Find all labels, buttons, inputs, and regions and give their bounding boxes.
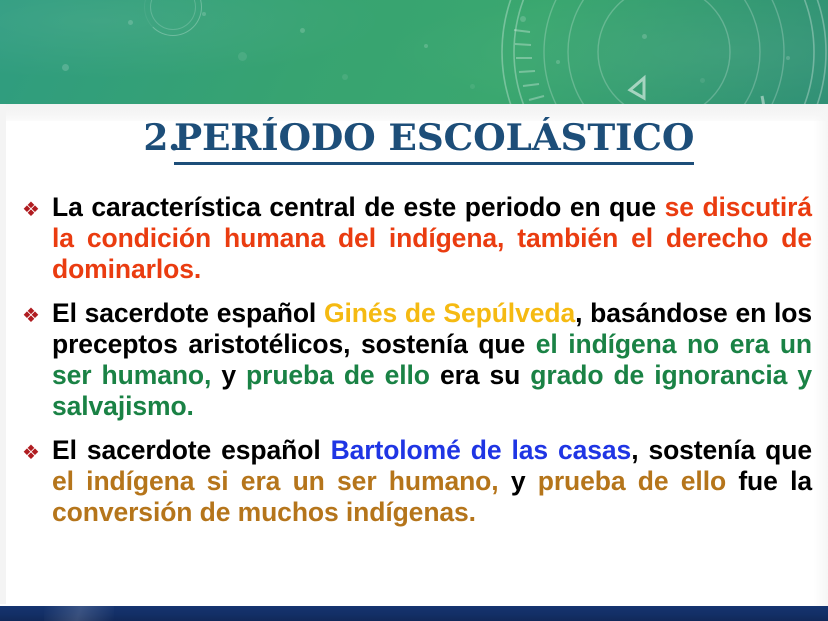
- diamond-bullet-icon: ❖: [22, 298, 52, 333]
- text-run: El sacerdote español: [52, 298, 324, 328]
- page-title: 2. PERÍODO ESCOLÁSTICO: [0, 117, 828, 165]
- bokeh-dot-icon: [202, 12, 206, 16]
- bokeh-dot-icon: [128, 20, 133, 25]
- footer-highlight-streak: [44, 606, 114, 621]
- left-edge-strip: [0, 104, 6, 604]
- text-run-accent: conversión de muchos indígenas.: [52, 497, 476, 527]
- bokeh-dot-icon: [342, 74, 348, 80]
- title-underlined-text: PERÍODO ESCOLÁSTICO: [174, 117, 694, 165]
- list-item: ❖ El sacerdote español Bartolomé de las …: [22, 435, 812, 528]
- bullet-2-text: El sacerdote español Ginés de Sepúlveda,…: [52, 298, 812, 422]
- diamond-bullet-icon: ❖: [22, 192, 52, 227]
- header-green-band: [0, 0, 828, 104]
- bullet-1-text: La característica central de este period…: [52, 192, 812, 285]
- text-run-accent: prueba de ello: [246, 360, 430, 390]
- text-run: La característica central de este period…: [52, 192, 665, 222]
- text-run: , sostenía que: [631, 435, 812, 465]
- text-run-accent: Bartolomé de las casas: [331, 435, 632, 465]
- footer-accent-bar: [0, 606, 828, 621]
- text-run: era su: [430, 360, 530, 390]
- bullet-list: ❖ La característica central de este peri…: [22, 192, 812, 528]
- right-edge-strip: [814, 104, 828, 606]
- bokeh-dot-icon: [62, 64, 69, 71]
- bokeh-dot-icon: [470, 84, 475, 89]
- list-item: ❖ El sacerdote español Ginés de Sepúlved…: [22, 298, 812, 422]
- text-run-accent: el indígena si era un ser humano,: [52, 466, 499, 496]
- bullet-3-text: El sacerdote español Bartolomé de las ca…: [52, 435, 812, 528]
- list-item: ❖ La característica central de este peri…: [22, 192, 812, 285]
- text-run-accent: prueba de ello: [538, 466, 726, 496]
- text-run: fue la: [726, 466, 812, 496]
- diamond-bullet-icon: ❖: [22, 435, 52, 470]
- bokeh-dot-icon: [424, 44, 428, 48]
- bokeh-dot-icon: [238, 52, 247, 61]
- radar-dial-icon: [494, 0, 828, 104]
- bokeh-dot-icon: [300, 28, 305, 33]
- text-run-accent: Ginés de Sepúlveda: [324, 298, 575, 328]
- text-run: y: [499, 466, 538, 496]
- text-run: y: [211, 360, 246, 390]
- slide-canvas: 2. PERÍODO ESCOLÁSTICO ❖ La característi…: [0, 0, 828, 621]
- text-run: El sacerdote español: [52, 435, 331, 465]
